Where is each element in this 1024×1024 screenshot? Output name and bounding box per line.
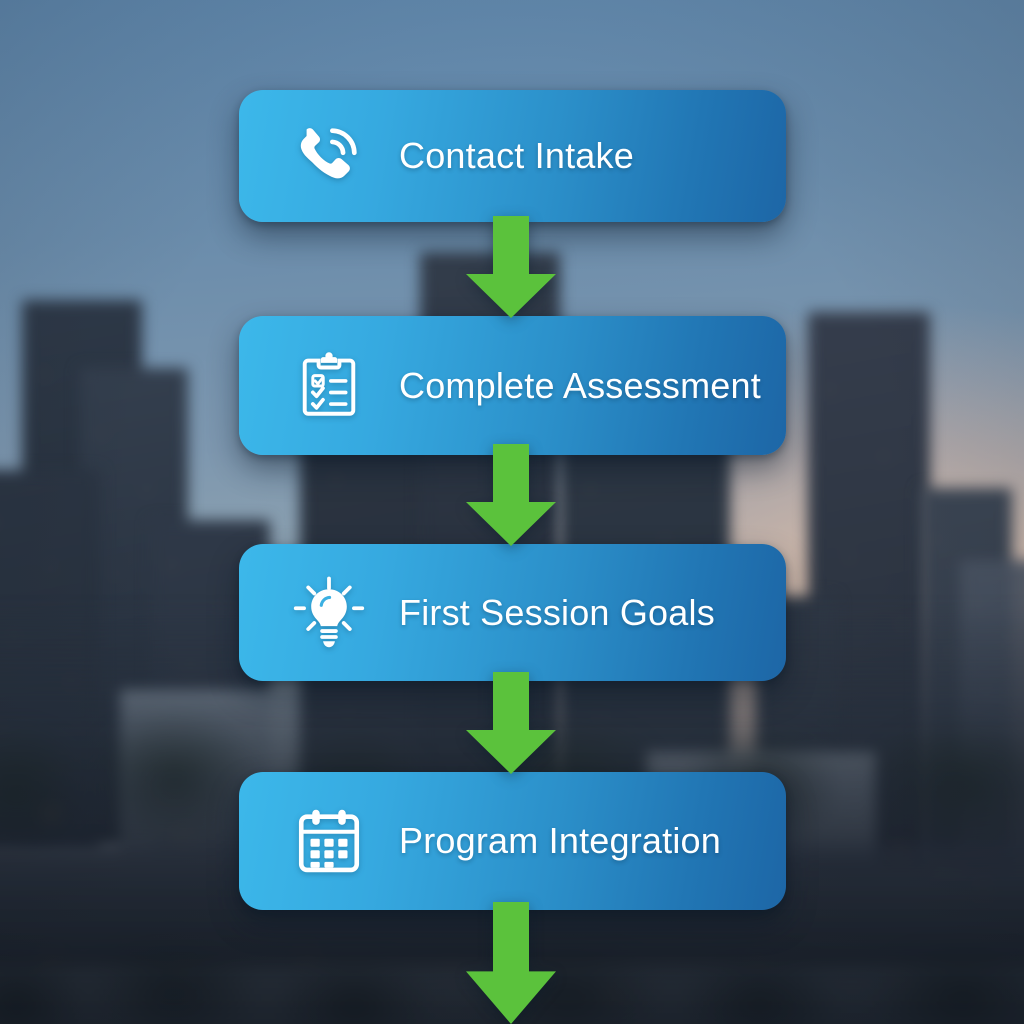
lightbulb-icon [277, 575, 381, 651]
flow-connector-arrow [466, 444, 556, 546]
flow-step-label: Program Integration [399, 820, 721, 862]
flow-step-first-session-goals[interactable]: First Session Goals [239, 544, 786, 681]
flow-connector-arrow [466, 672, 556, 774]
process-flowchart: Contact Intake [0, 0, 1024, 1024]
flow-connector-arrow [466, 216, 556, 318]
flow-step-label: Complete Assessment [399, 365, 761, 407]
calendar-icon [277, 804, 381, 878]
flow-step-contact-intake[interactable]: Contact Intake [239, 90, 786, 222]
phone-call-icon [277, 120, 381, 192]
flow-connector-arrow [466, 902, 556, 1024]
flow-step-label: Contact Intake [399, 135, 634, 177]
flow-step-program-integration[interactable]: Program Integration [239, 772, 786, 910]
clipboard-check-icon [277, 349, 381, 423]
flow-step-complete-assessment[interactable]: Complete Assessment [239, 316, 786, 455]
flow-step-label: First Session Goals [399, 592, 715, 634]
